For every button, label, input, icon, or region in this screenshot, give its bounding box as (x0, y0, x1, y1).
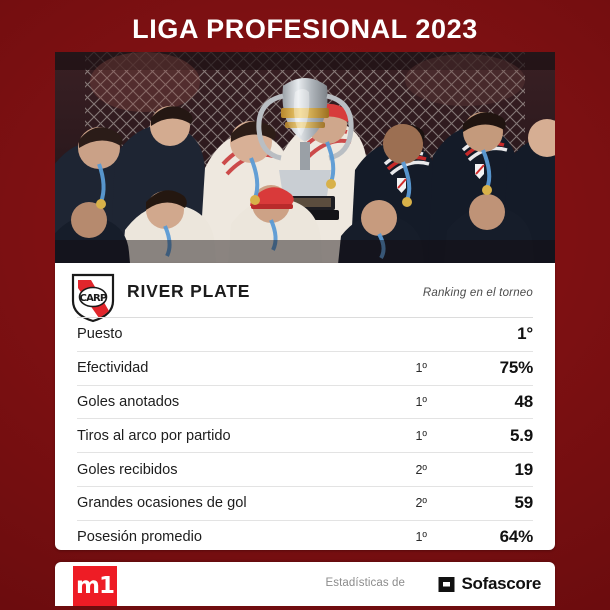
stat-rank: 1º (385, 530, 449, 544)
table-row: Puesto 1° (77, 317, 533, 351)
table-row: Goles recibidos 2º 19 (77, 452, 533, 486)
table-row: Goles anotados 1º 48 (77, 385, 533, 419)
infographic-stage: LIGA PROFESIONAL 2023 (0, 0, 610, 610)
river-plate-crest-icon: CARP (69, 271, 117, 323)
stat-rank: 2º (385, 496, 449, 510)
m1-logo-text: m1 (76, 575, 114, 598)
stat-rank: 1º (385, 361, 449, 375)
ranking-column-label: Ranking en el torneo (423, 287, 533, 299)
team-name: RIVER PLATE (127, 281, 250, 302)
stat-value: 1° (449, 324, 533, 344)
footer-bar: m1 Estadísticas de Sofascore (55, 562, 555, 606)
page-title: LIGA PROFESIONAL 2023 (0, 14, 610, 45)
sofascore-logo: Sofascore (438, 574, 541, 594)
card-header: CARP RIVER PLATE Ranking en el torneo (55, 263, 555, 319)
stats-table: Puesto 1° Efectividad 1º 75% Goles anota… (77, 317, 533, 554)
stats-card: CARP RIVER PLATE Ranking en el torneo Pu… (55, 263, 555, 550)
stat-value: 64% (449, 527, 533, 547)
stat-value: 75% (449, 358, 533, 378)
table-row: Tiros al arco por partido 1º 5.9 (77, 418, 533, 452)
stat-rank: 1º (385, 395, 449, 409)
stat-label: Goles recibidos (77, 462, 385, 478)
stat-label: Puesto (77, 326, 385, 342)
m1-brand-logo: m1 (73, 566, 117, 606)
stat-label: Tiros al arco por partido (77, 428, 385, 444)
stat-rank: 2º (385, 463, 449, 477)
stat-rank: 1º (385, 429, 449, 443)
stat-label: Posesión promedio (77, 529, 385, 545)
table-row: Grandes ocasiones de gol 2º 59 (77, 486, 533, 520)
stat-label: Grandes ocasiones de gol (77, 495, 385, 511)
team-celebration-photo (55, 52, 555, 263)
svg-text:CARP: CARP (80, 293, 107, 304)
table-row: Efectividad 1º 75% (77, 351, 533, 385)
stat-value: 59 (449, 493, 533, 513)
stats-credit-label: Estadísticas de (326, 577, 405, 589)
stat-value: 48 (449, 392, 533, 412)
table-row: Posesión promedio 1º 64% (77, 520, 533, 554)
sofascore-name: Sofascore (461, 574, 541, 594)
stat-label: Efectividad (77, 360, 385, 376)
stat-value: 5.9 (449, 426, 533, 446)
stat-value: 19 (449, 460, 533, 480)
sofascore-mark-icon (438, 576, 455, 593)
stat-label: Goles anotados (77, 394, 385, 410)
